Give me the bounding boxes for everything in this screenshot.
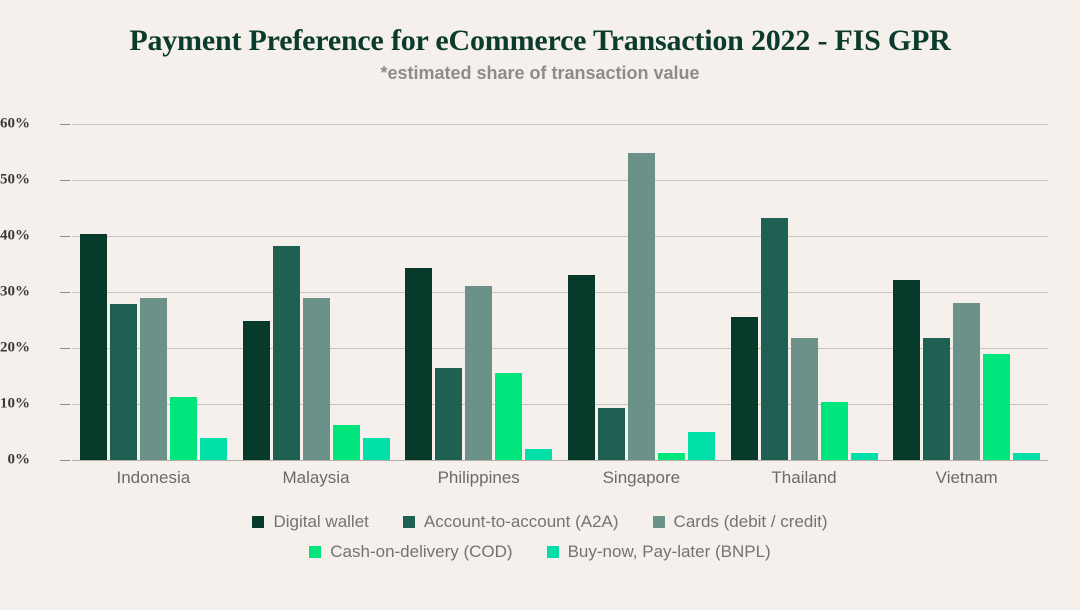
bar[interactable] — [688, 432, 715, 460]
legend-item[interactable]: Digital wallet — [252, 512, 368, 532]
bar-group: Singapore — [560, 124, 723, 460]
bar[interactable] — [80, 234, 107, 460]
y-axis-tick-label: 60% — [0, 116, 30, 133]
y-axis-tick-mark — [60, 292, 70, 293]
bar-group: Vietnam — [885, 124, 1048, 460]
bar[interactable] — [893, 280, 920, 460]
plot-area: 0%10%20%30%40%50%60% IndonesiaMalaysiaPh… — [72, 124, 1048, 460]
legend-swatch-icon — [252, 516, 264, 528]
bar[interactable] — [273, 246, 300, 460]
bar[interactable] — [761, 218, 788, 460]
bar[interactable] — [140, 298, 167, 460]
legend-label: Buy-now, Pay-later (BNPL) — [568, 542, 771, 562]
legend-item[interactable]: Cash-on-delivery (COD) — [309, 542, 512, 562]
bar[interactable] — [303, 298, 330, 460]
legend-row: Digital walletAccount-to-account (A2A)Ca… — [0, 512, 1080, 532]
legend-swatch-icon — [309, 546, 321, 558]
legend-row: Cash-on-delivery (COD)Buy-now, Pay-later… — [0, 542, 1080, 562]
y-axis-tick-mark — [60, 124, 70, 125]
chart-title: Payment Preference for eCommerce Transac… — [0, 24, 1080, 58]
bar[interactable] — [983, 354, 1010, 460]
chart-legend: Digital walletAccount-to-account (A2A)Ca… — [0, 512, 1080, 572]
y-axis-tick-mark — [60, 460, 70, 461]
legend-label: Digital wallet — [273, 512, 368, 532]
bar[interactable] — [658, 453, 685, 460]
legend-label: Cash-on-delivery (COD) — [330, 542, 512, 562]
bar[interactable] — [170, 397, 197, 460]
y-axis-tick-mark — [60, 180, 70, 181]
bar[interactable] — [333, 425, 360, 460]
bar[interactable] — [243, 321, 270, 460]
bar[interactable] — [495, 373, 522, 460]
bar[interactable] — [1013, 453, 1040, 460]
y-axis-tick-label: 40% — [0, 228, 30, 245]
y-axis-tick-label: 20% — [0, 340, 30, 357]
y-axis-tick-label: 10% — [0, 396, 30, 413]
bar-group: Thailand — [723, 124, 886, 460]
bar[interactable] — [628, 153, 655, 460]
bar[interactable] — [200, 438, 227, 460]
bar[interactable] — [923, 338, 950, 460]
y-axis-tick-mark — [60, 236, 70, 237]
legend-label: Account-to-account (A2A) — [424, 512, 619, 532]
x-axis-category-label: Indonesia — [72, 468, 235, 488]
bar[interactable] — [731, 317, 758, 460]
y-axis-tick-label: 0% — [0, 452, 30, 469]
bar-group: Philippines — [397, 124, 560, 460]
bar[interactable] — [405, 268, 432, 460]
bar[interactable] — [110, 304, 137, 460]
y-axis-tick-mark — [60, 404, 70, 405]
bar-group: Indonesia — [72, 124, 235, 460]
bar[interactable] — [598, 408, 625, 460]
x-axis-category-label: Philippines — [397, 468, 560, 488]
bar[interactable] — [465, 286, 492, 460]
bar-group: Malaysia — [235, 124, 398, 460]
legend-swatch-icon — [653, 516, 665, 528]
legend-label: Cards (debit / credit) — [674, 512, 828, 532]
x-axis-category-label: Thailand — [723, 468, 886, 488]
legend-swatch-icon — [403, 516, 415, 528]
bar[interactable] — [821, 402, 848, 460]
y-axis-tick-label: 50% — [0, 172, 30, 189]
bar[interactable] — [568, 275, 595, 460]
bar[interactable] — [851, 453, 878, 460]
x-axis-category-label: Vietnam — [885, 468, 1048, 488]
bar[interactable] — [435, 368, 462, 460]
x-axis-category-label: Singapore — [560, 468, 723, 488]
chart-subtitle: *estimated share of transaction value — [0, 63, 1080, 84]
bar[interactable] — [953, 303, 980, 460]
gridline — [72, 460, 1048, 461]
legend-item[interactable]: Cards (debit / credit) — [653, 512, 828, 532]
legend-swatch-icon — [547, 546, 559, 558]
y-axis-tick-label: 30% — [0, 284, 30, 301]
bar[interactable] — [363, 438, 390, 460]
bar-groups: IndonesiaMalaysiaPhilippinesSingaporeTha… — [72, 124, 1048, 460]
legend-item[interactable]: Account-to-account (A2A) — [403, 512, 619, 532]
legend-item[interactable]: Buy-now, Pay-later (BNPL) — [547, 542, 771, 562]
chart-container: Payment Preference for eCommerce Transac… — [0, 0, 1080, 610]
x-axis-category-label: Malaysia — [235, 468, 398, 488]
y-axis-tick-mark — [60, 348, 70, 349]
bar[interactable] — [525, 449, 552, 460]
bar[interactable] — [791, 338, 818, 460]
